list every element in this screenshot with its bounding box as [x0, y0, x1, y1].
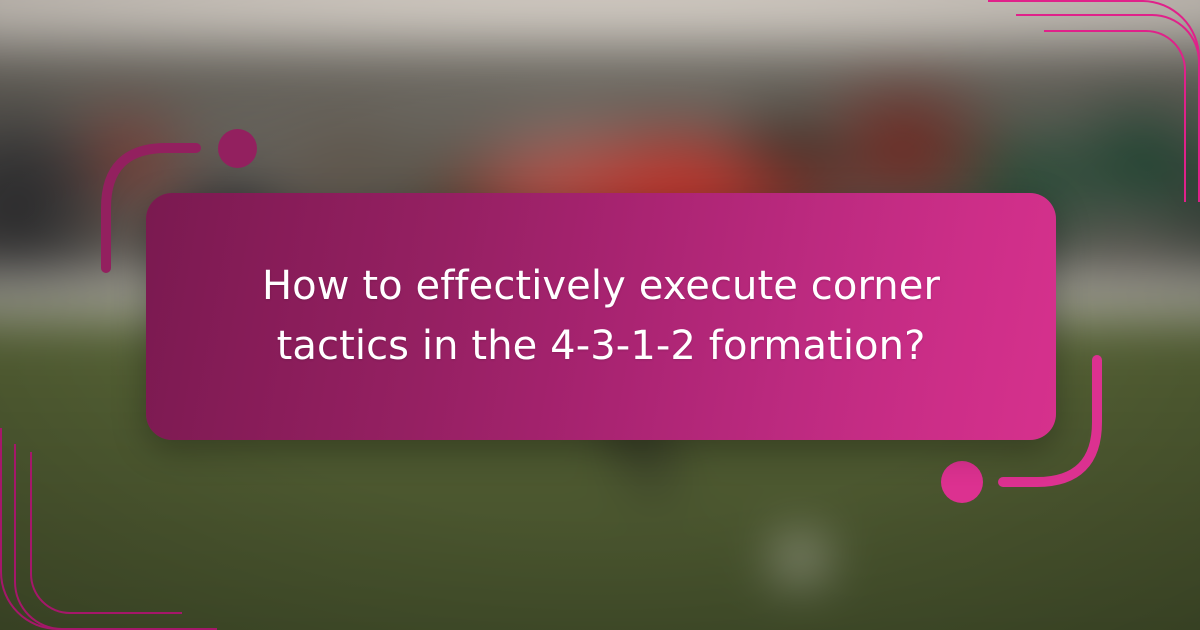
dot-bottom-right-icon [941, 461, 983, 503]
dot-top-left-icon [218, 129, 257, 168]
social-card-canvas: How to effectively execute corner tactic… [0, 0, 1200, 630]
title-card: How to effectively execute corner tactic… [146, 193, 1056, 440]
card-title: How to effectively execute corner tactic… [220, 257, 982, 375]
